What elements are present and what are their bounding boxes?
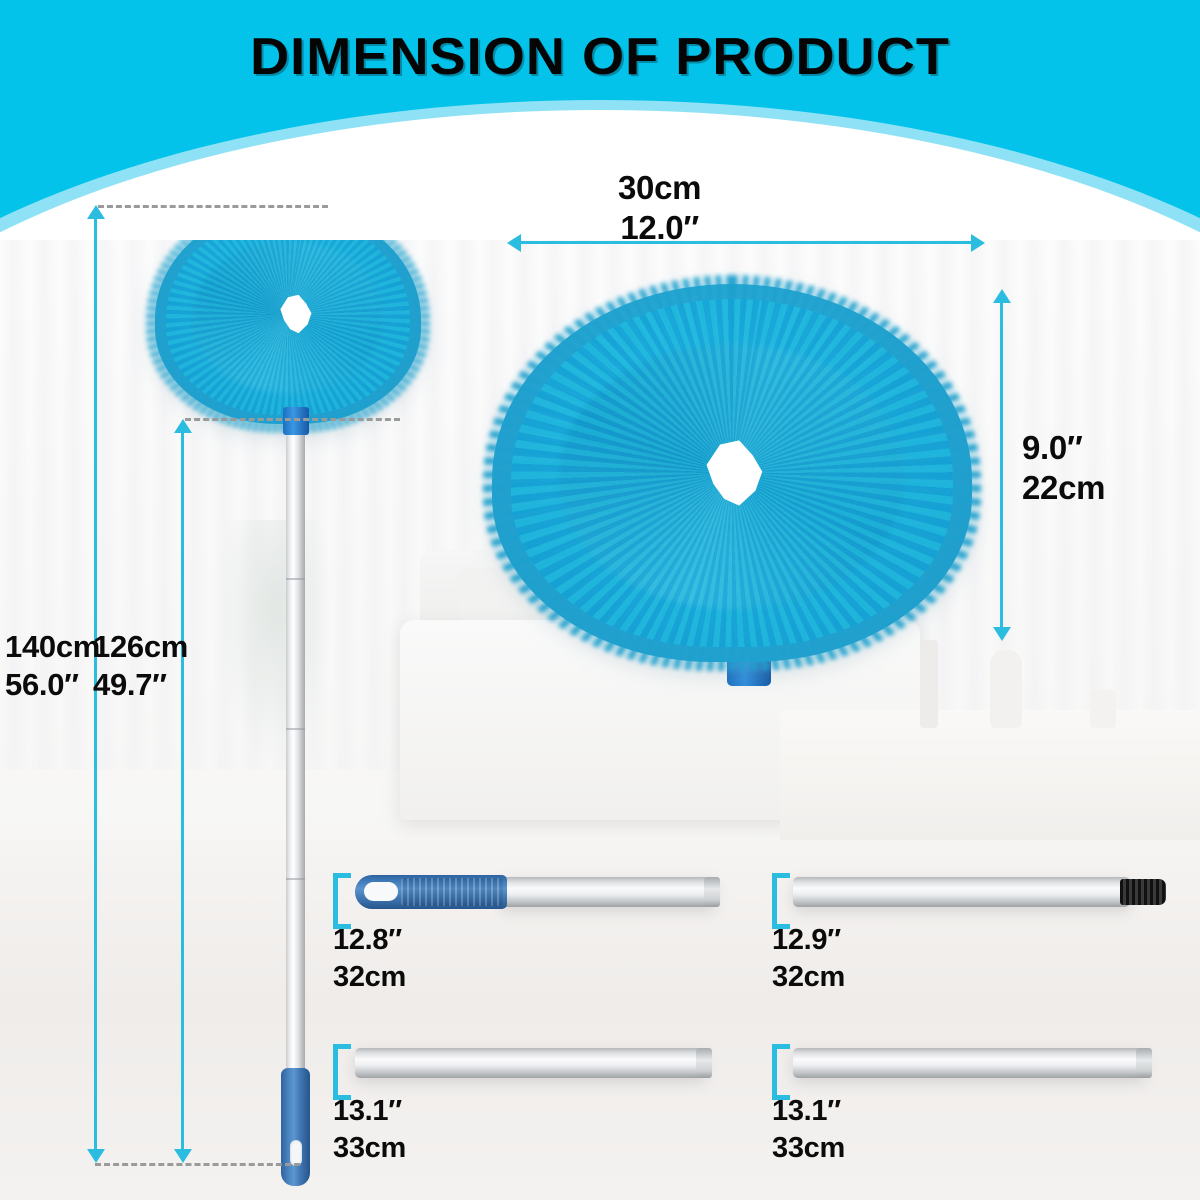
segment-4-inch: 13.1″ [772,1093,845,1130]
segment-bracket [333,873,351,929]
header-arc-white [0,110,1200,240]
background-vase [990,650,1022,728]
head-height-inch: 9.0″ [1022,428,1105,468]
segment-end-cap [704,877,720,907]
segment-threaded-tip [1120,879,1166,905]
pole-length-cm: 126cm [93,628,188,666]
segment-3-cm: 33cm [333,1130,406,1167]
segment-tube [500,877,715,907]
segment-end-cap [696,1048,712,1078]
background-bottle [920,640,938,728]
segment-label-4: 13.1″ 33cm [772,1093,845,1166]
background-table [780,710,1200,850]
segment-tube [793,1048,1145,1078]
reference-line-bottom [95,1163,300,1166]
segment-bracket [333,1044,351,1100]
duster-center-hole [275,294,313,334]
segment-end-cap [1136,1048,1152,1078]
segment-4-cm: 33cm [772,1130,845,1167]
head-height-label: 9.0″ 22cm [1022,428,1105,509]
segment-1-cm: 32cm [333,959,406,996]
pole-length-label: 126cm 49.7″ [93,628,188,704]
total-length-cm: 140cm [5,628,100,666]
background-cup [1090,690,1116,728]
segment-tube [793,877,1130,907]
head-width-label: 30cm 12.0″ [618,168,701,249]
segment-2-inch: 12.9″ [772,922,845,959]
segment-2-cm: 32cm [772,959,845,996]
segment-label-3: 13.1″ 33cm [333,1093,406,1166]
head-width-inch: 12.0″ [618,208,701,248]
head-height-cm: 22cm [1022,468,1105,508]
reference-line-top [98,205,328,208]
head-width-cm: 30cm [618,168,701,208]
product-dimension-infographic: DIMENSION OF PRODUCT 140cm 56.0″ 126cm 4… [0,0,1200,1200]
background-plant [215,520,335,770]
segment-1-inch: 12.8″ [333,922,406,959]
duster-head-large [492,284,972,662]
pole-length-arrow [181,432,184,1150]
assembled-pole [286,428,305,1078]
pole-length-inch: 49.7″ [93,666,188,704]
segment-3-inch: 13.1″ [333,1093,406,1130]
segment-tube [355,1048,705,1078]
segment-label-2: 12.9″ 32cm [772,922,845,995]
head-height-arrow [1000,302,1003,628]
duster-center-hole [697,439,765,507]
page-title: DIMENSION OF PRODUCT [0,27,1200,87]
duster-swirl [559,344,905,609]
reference-line-mid [185,418,400,421]
total-length-inch: 56.0″ [5,666,100,704]
duster-swirl [192,241,384,394]
duster-collar-small [283,407,309,435]
assembled-pole-grip [281,1068,310,1186]
segment-bracket [772,1044,790,1100]
segment-bracket [772,873,790,929]
total-length-label: 140cm 56.0″ [5,628,100,704]
head-width-arrow [520,241,972,244]
segment-hanging-hole [364,882,398,901]
segment-label-1: 12.8″ 32cm [333,922,406,995]
